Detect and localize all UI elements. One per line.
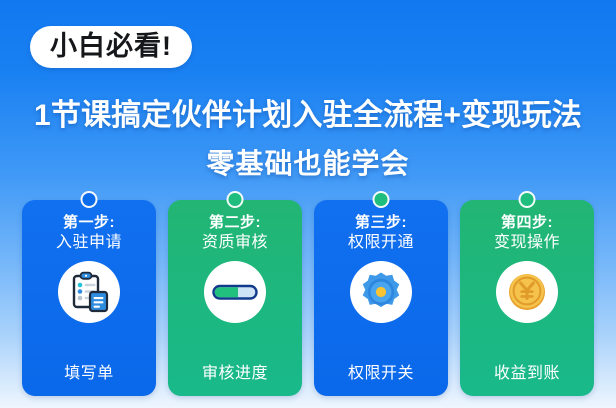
steps-row: 第一步: 入驻申请 <box>22 200 594 396</box>
clipboard-checklist-icon <box>67 270 111 314</box>
step-title-2: 第二步: <box>209 214 261 231</box>
step-footer-2: 审核进度 <box>202 359 268 383</box>
step-card-3[interactable]: 第三步: 权限开通 权限开关 <box>314 200 448 396</box>
step-footer-1: 填写单 <box>64 359 114 383</box>
step-icon-wrap-1 <box>58 261 120 323</box>
promo-poster: 小白必看! 1节课搞定伙伴计划入驻全流程+变现玩法 零基础也能学会 第一步: 入… <box>0 0 616 408</box>
step-connector-dot-icon <box>81 191 98 208</box>
step-subtitle-1: 入驻申请 <box>56 233 122 252</box>
step-title-3: 第三步: <box>355 214 407 231</box>
step-card-1[interactable]: 第一步: 入驻申请 <box>22 200 156 396</box>
step-connector-dot-icon <box>227 191 244 208</box>
step-subtitle-4: 变现操作 <box>494 233 560 252</box>
step-connector-dot-icon <box>519 191 536 208</box>
step-card-2[interactable]: 第二步: 资质审核 审核进度 <box>168 200 302 396</box>
step-footer-4: 收益到账 <box>494 359 560 383</box>
step-title-1: 第一步: <box>63 214 115 231</box>
step-subtitle-2: 资质审核 <box>202 233 268 252</box>
step-footer-3: 权限开关 <box>348 359 414 383</box>
page-subtitle: 零基础也能学会 <box>0 142 616 182</box>
step-icon-wrap-4 <box>496 261 558 323</box>
progress-bar-icon <box>211 270 259 314</box>
attention-badge: 小白必看! <box>30 26 192 68</box>
step-card-4[interactable]: 第四步: 变现操作 收益到账 <box>460 200 594 396</box>
step-icon-wrap-3 <box>350 261 412 323</box>
step-connector-dot-icon <box>373 191 390 208</box>
step-icon-wrap-2 <box>204 261 266 323</box>
badge-container: 小白必看! <box>30 26 192 68</box>
gear-settings-icon <box>358 269 404 315</box>
step-subtitle-3: 权限开通 <box>348 233 414 252</box>
yen-coin-icon <box>505 270 549 314</box>
step-title-4: 第四步: <box>501 214 553 231</box>
page-title: 1节课搞定伙伴计划入驻全流程+变现玩法 <box>0 90 616 134</box>
